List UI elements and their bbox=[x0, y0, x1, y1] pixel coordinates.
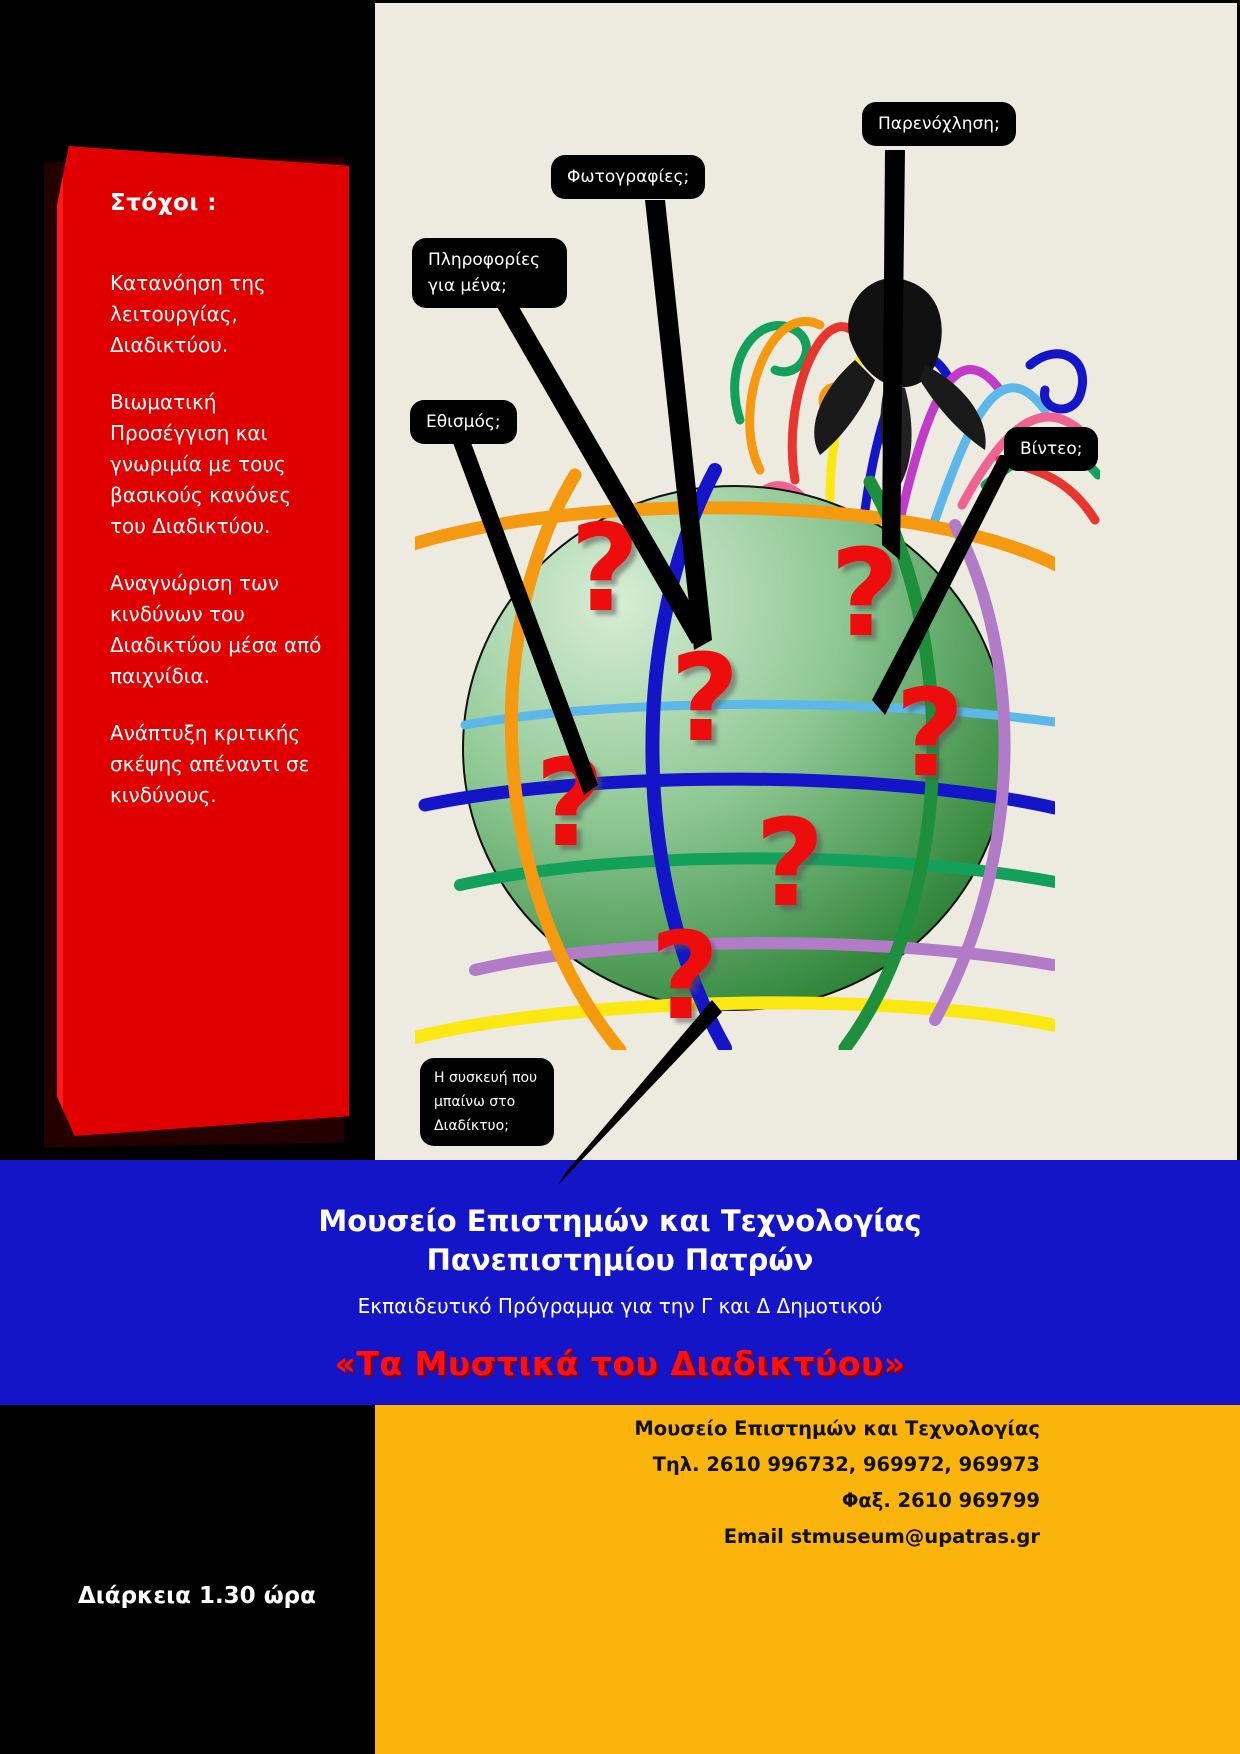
contact-line-museum: Μουσείο Επιστημών και Τεχνολογίας bbox=[634, 1411, 1040, 1447]
callout-info-about-me[interactable]: Πληροφορίες για μένα; bbox=[412, 238, 567, 308]
callout-video[interactable]: Βίντεο; bbox=[1004, 427, 1098, 471]
duration-text: Διάρκεια 1.30 ώρα bbox=[78, 1583, 316, 1609]
callout-addiction[interactable]: Εθισμός; bbox=[410, 400, 517, 444]
callout-device[interactable]: Η συσκευή που μπαίνω στο Διαδίκτυο; bbox=[420, 1058, 554, 1146]
contact-line-phone: Τηλ. 2610 996732, 969972, 969973 bbox=[634, 1447, 1040, 1483]
contact-line-email[interactable]: Email stmuseum@upatras.gr bbox=[634, 1519, 1040, 1555]
duration-panel: Διάρκεια 1.30 ώρα bbox=[0, 1405, 375, 1754]
callout-harassment[interactable]: Παρενόχληση; bbox=[862, 102, 1016, 146]
contact-block: Μουσείο Επιστημών και Τεχνολογίας Τηλ. 2… bbox=[634, 1411, 1040, 1555]
program-title: «Τα Μυστικά του Διαδικτύου» bbox=[0, 1344, 1240, 1383]
contact-panel: Μουσείο Επιστημών και Τεχνολογίας Τηλ. 2… bbox=[375, 1405, 1240, 1754]
contact-line-fax: Φαξ. 2610 969799 bbox=[634, 1483, 1040, 1519]
callout-photos[interactable]: Φωτογραφίες; bbox=[551, 155, 705, 199]
poster-root: Στόχοι : Κατανόηση της λειτουργίας, Διαδ… bbox=[0, 0, 1240, 1754]
